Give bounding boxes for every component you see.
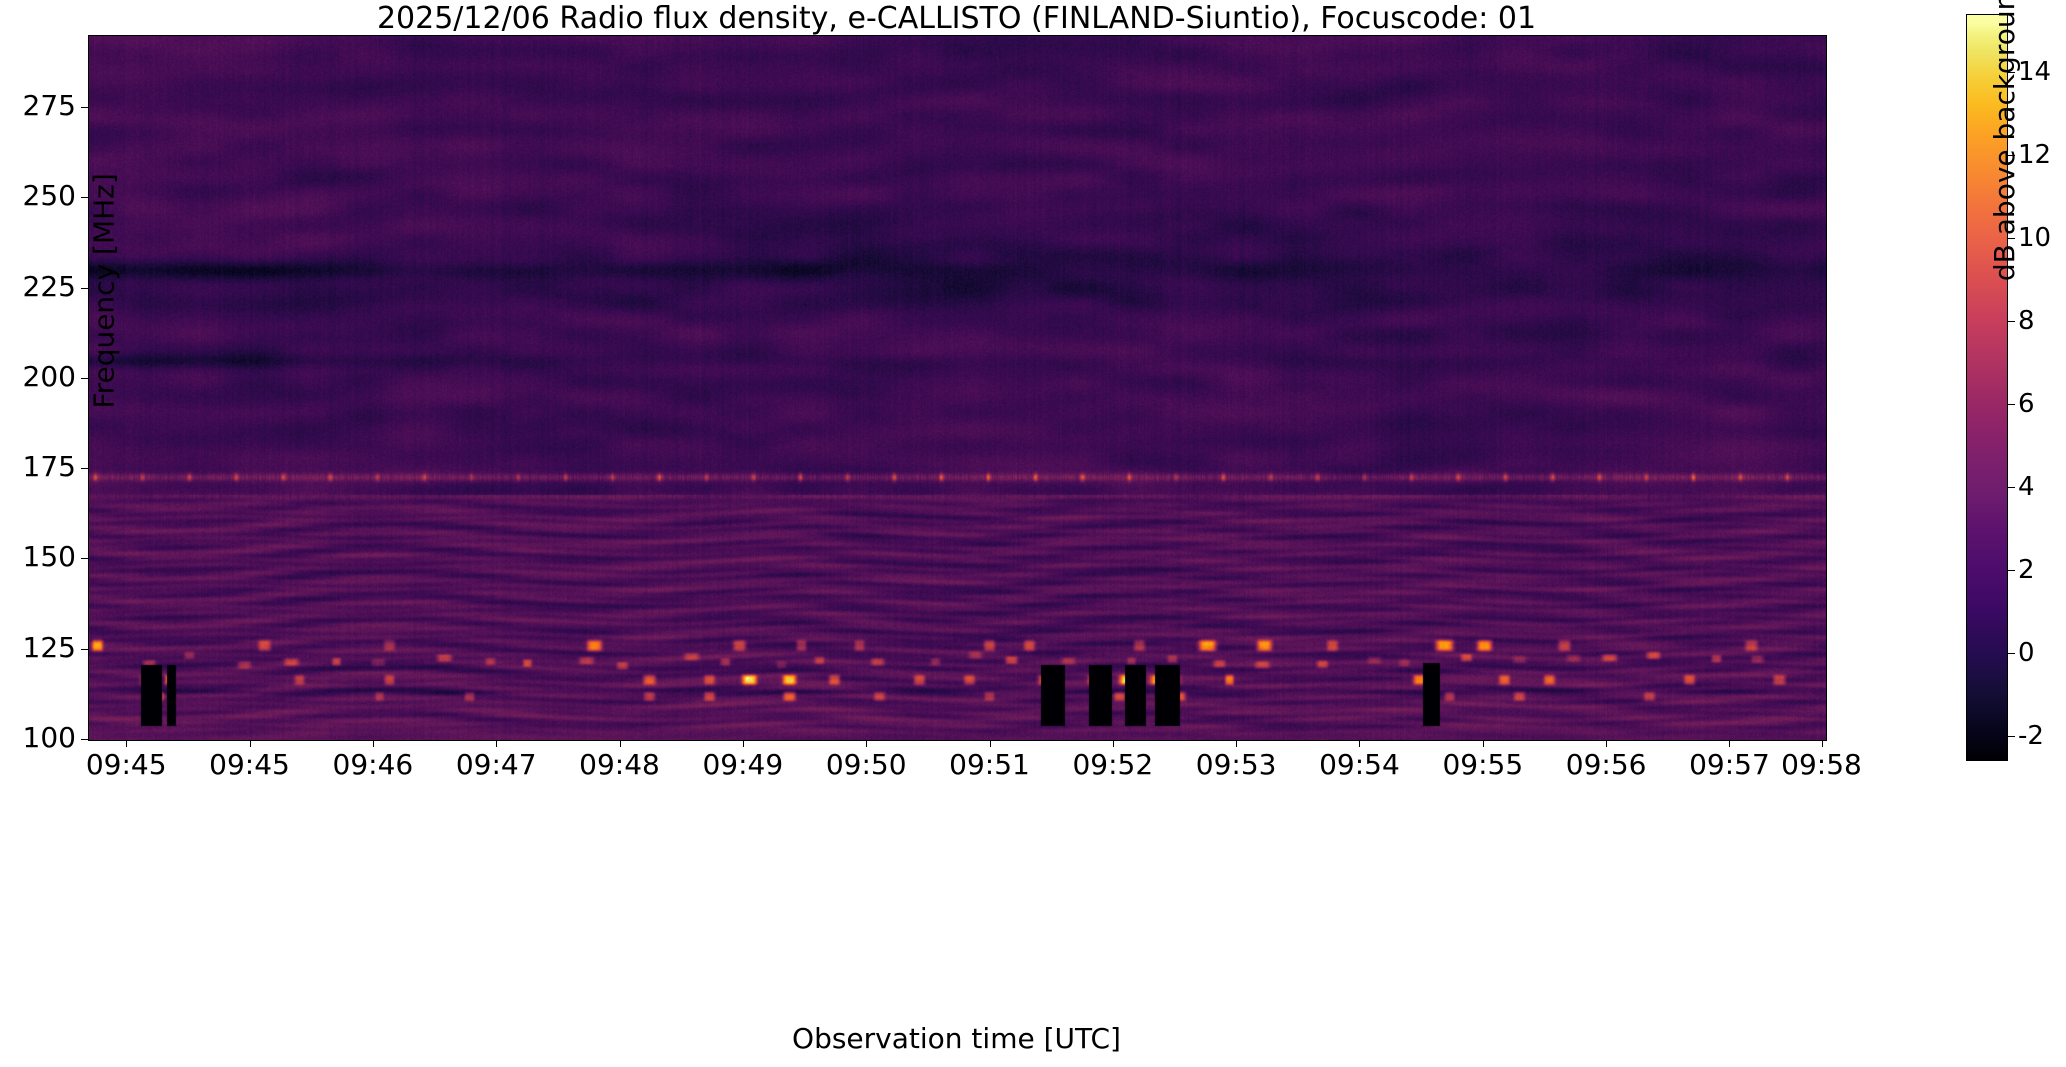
y-tick-label: 100 [23,721,76,754]
colorbar-tick-label: 10 [2018,223,2051,253]
x-tick-mark [496,740,497,747]
y-tick-mark [81,558,88,559]
x-tick-mark [743,740,744,747]
x-tick-mark [1729,740,1730,747]
colorbar-tick-mark [2008,653,2015,654]
x-tick-label: 09:52 [1072,748,1153,781]
y-tick-mark [81,197,88,198]
x-tick-label: 09:56 [1566,748,1647,781]
y-axis-label: Frequency [MHz] [88,189,121,409]
x-tick-mark [990,740,991,747]
x-tick-label: 09:50 [826,748,907,781]
y-tick-label: 125 [23,631,76,664]
y-tick-mark [81,739,88,740]
x-tick-label: 09:57 [1689,748,1770,781]
x-tick-label: 09:49 [702,748,783,781]
y-tick-label: 250 [23,179,76,212]
x-tick-label: 09:45 [86,748,167,781]
colorbar-tick-label: 0 [2018,638,2035,668]
x-tick-mark [1483,740,1484,747]
x-axis-label: Observation time [UTC] [88,1022,1825,1055]
colorbar-tick-mark [2008,404,2015,405]
colorbar-label: dB above background [1988,0,2021,388]
y-tick-label: 225 [23,270,76,303]
y-tick-label: 150 [23,540,76,573]
x-tick-mark [250,740,251,747]
colorbar-tick-label: 14 [2018,57,2051,87]
x-tick-label: 09:48 [579,748,660,781]
figure-canvas: 2025/12/06 Radio flux density, e-CALLIST… [0,0,2066,1067]
y-tick-label: 200 [23,360,76,393]
x-tick-mark [373,740,374,747]
colorbar-tick-label: 6 [2018,389,2035,419]
y-tick-mark [81,649,88,650]
y-tick-mark [81,107,88,108]
x-tick-mark [1606,740,1607,747]
x-tick-label: 09:58 [1781,748,1862,781]
x-tick-label: 09:51 [949,748,1030,781]
colorbar-tick-label: -2 [2018,721,2044,751]
colorbar-tick-label: 12 [2018,140,2051,170]
y-tick-mark [81,468,88,469]
colorbar-tick-mark [2008,736,2015,737]
x-tick-label: 09:45 [209,748,290,781]
x-tick-mark [126,740,127,747]
x-tick-mark [1113,740,1114,747]
x-tick-label: 09:55 [1442,748,1523,781]
colorbar-tick-mark [2008,570,2015,571]
x-tick-mark [866,740,867,747]
colorbar-tick-label: 2 [2018,555,2035,585]
x-tick-label: 09:47 [456,748,537,781]
x-tick-label: 09:53 [1196,748,1277,781]
y-tick-label: 275 [23,89,76,122]
page-title: 2025/12/06 Radio flux density, e-CALLIST… [88,2,1825,36]
x-tick-mark [1236,740,1237,747]
x-tick-mark [1822,740,1823,747]
y-tick-mark [81,378,88,379]
y-tick-mark [81,288,88,289]
x-tick-label: 09:54 [1319,748,1400,781]
y-tick-label: 175 [23,450,76,483]
colorbar-tick-label: 4 [2018,472,2035,502]
x-tick-label: 09:46 [333,748,414,781]
spectrogram-axes [88,35,1827,741]
colorbar-tick-mark [2008,487,2015,488]
x-tick-mark [620,740,621,747]
spectrogram-image [89,36,1826,740]
x-tick-mark [1359,740,1360,747]
